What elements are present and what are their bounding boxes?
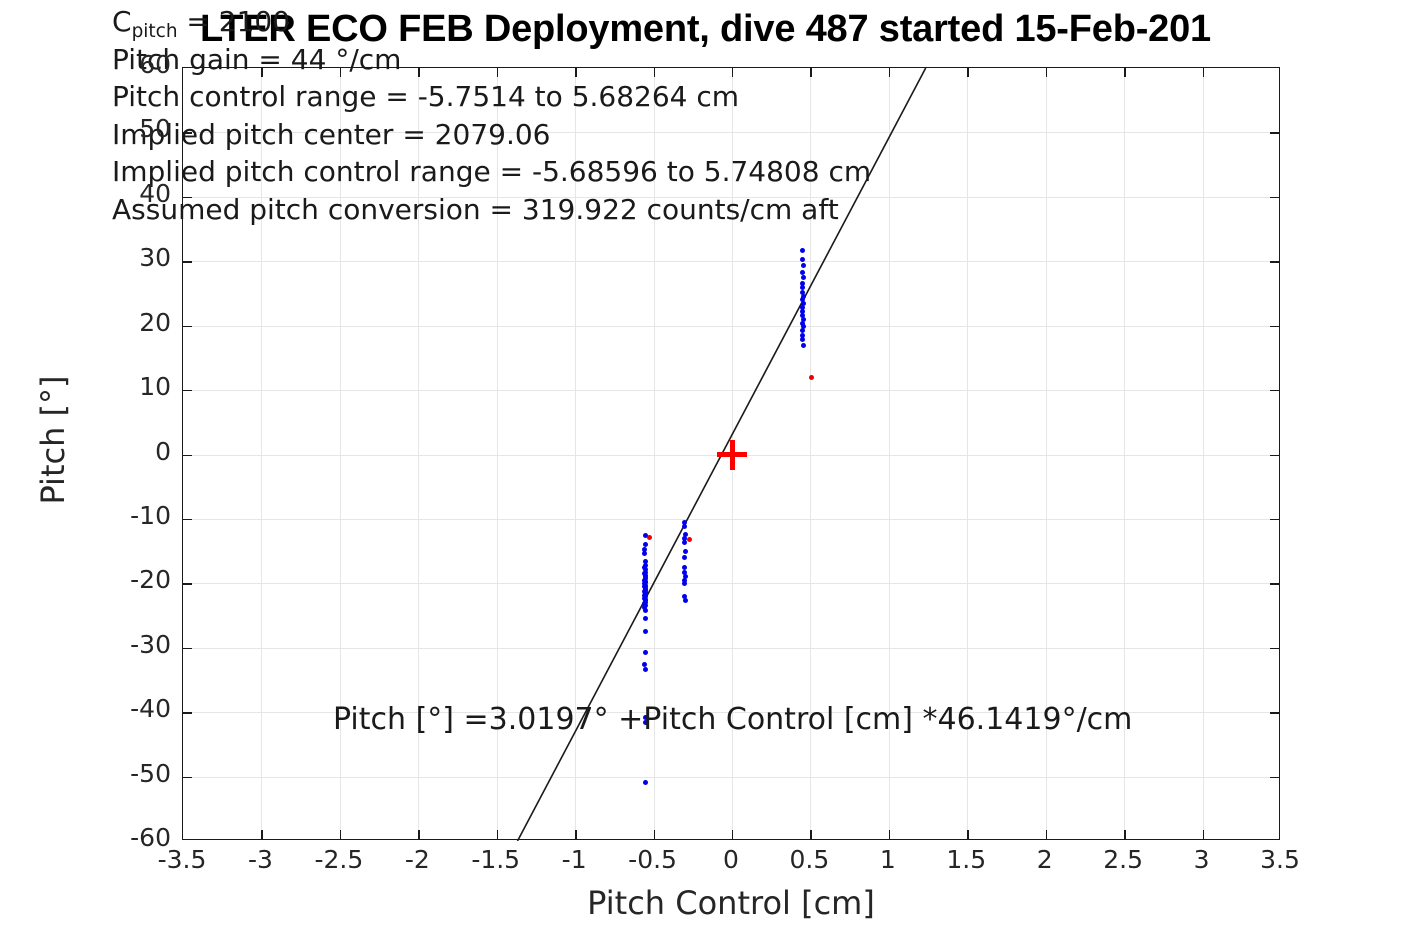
y-tick-label: 30: [51, 243, 171, 272]
y-tick-label: -20: [51, 565, 171, 594]
figure-title-text: LTER ECO FEB Deployment, dive 487 starte…: [200, 0, 1211, 58]
y-tick-label: 40: [51, 179, 171, 208]
x-tick-label: 3.5: [1225, 845, 1335, 874]
page-title: LTER ECO FEB Deployment, dive 487 starte…: [0, 0, 1417, 58]
y-tick-label: -50: [51, 759, 171, 788]
y-tick-label: 60: [51, 50, 171, 79]
y-tick-label: -40: [51, 694, 171, 723]
y-tick-label: 0: [51, 437, 171, 466]
y-tick-label: -30: [51, 630, 171, 659]
annotation-layer: [183, 68, 1279, 839]
plot-area: [182, 67, 1280, 840]
y-tick-label: 20: [51, 308, 171, 337]
x-axis-label: Pitch Control [cm]: [182, 884, 1280, 922]
y-tick-label: 50: [51, 114, 171, 143]
y-tick-label: 10: [51, 372, 171, 401]
y-tick-label: -60: [51, 823, 171, 852]
y-tick-label: -10: [51, 501, 171, 530]
